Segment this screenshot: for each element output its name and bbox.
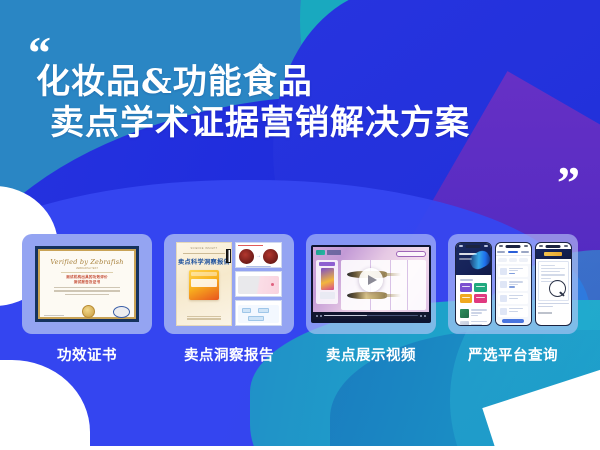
play-control-icon[interactable]	[316, 315, 318, 317]
phone-search-results[interactable]	[495, 242, 532, 326]
filter-chip[interactable]	[509, 258, 518, 262]
title-line-secondary: 卖点学术证据营销解决方案	[36, 103, 576, 144]
report-cover-footer	[177, 314, 231, 321]
item-text	[471, 309, 487, 317]
status-time	[499, 245, 503, 246]
filter-chip[interactable]	[519, 258, 528, 262]
footer-line	[538, 306, 554, 307]
result-row[interactable]	[498, 266, 528, 278]
volume-icon[interactable]	[320, 315, 322, 317]
card-label-insight-report: 卖点洞察报告	[164, 344, 294, 365]
flow-node	[248, 316, 264, 321]
video-progress-track[interactable]	[324, 315, 418, 316]
doc-line	[541, 271, 560, 272]
phone-notch	[466, 245, 481, 249]
dashboard-list	[458, 307, 489, 326]
video-microscope-view	[341, 260, 426, 310]
phone-notch	[546, 245, 561, 249]
status-time	[539, 245, 543, 246]
result-line	[509, 295, 523, 296]
result-line	[509, 284, 518, 285]
filter-chip-row[interactable]	[496, 256, 531, 264]
closing-quote-mark: ”	[557, 160, 578, 206]
side-panel-product-image	[321, 268, 334, 290]
item-text	[471, 321, 487, 326]
measurement-gridline	[390, 260, 391, 310]
status-icons	[484, 245, 488, 246]
cell-image-treated	[263, 249, 278, 264]
doc-line	[541, 274, 565, 275]
card-selling-point-insight-report[interactable]: SCIENCE INSIGHT 卖点科学洞察报告	[164, 234, 294, 384]
item-line	[471, 312, 482, 313]
result-row[interactable]	[498, 306, 528, 317]
title-line-primary: 化妆品&功能食品	[36, 62, 576, 103]
panel-caption-bar	[246, 266, 271, 268]
settings-icon[interactable]	[420, 315, 422, 317]
list-item[interactable]	[460, 309, 487, 318]
doc-line	[541, 265, 555, 266]
result-icon	[500, 268, 507, 275]
cell-image-control	[239, 249, 254, 264]
card-efficacy-certificate[interactable]: Verified by Zebrafish ZEBRAFISH TEST 测试机…	[22, 234, 152, 384]
quick-entry-tiles	[460, 283, 487, 304]
report-cover-rule	[183, 253, 225, 254]
signature-mark	[538, 309, 552, 315]
certificate-body-line	[54, 290, 120, 291]
tab-item[interactable]	[497, 251, 505, 253]
pathway-marker-dot	[271, 283, 274, 286]
arrow-icon: →	[256, 253, 261, 259]
phone-home-dashboard[interactable]	[455, 242, 492, 326]
certificate-script-title: Verified by Zebrafish	[50, 258, 123, 266]
brand-mark-icon	[316, 250, 325, 255]
video-progress-fill	[324, 315, 367, 316]
card-platform-query[interactable]: 严选平台查询	[448, 234, 578, 384]
certificate-script-subtitle: ZEBRAFISH TEST	[76, 267, 98, 270]
detail-header	[536, 249, 571, 259]
result-text	[509, 281, 526, 289]
side-panel-footer	[320, 292, 335, 299]
measurement-gridline	[407, 260, 408, 310]
result-line	[509, 311, 518, 312]
result-line	[509, 298, 518, 299]
poster-header: “ 化妆品&功能食品 卖点学术证据营销解决方案 ”	[0, 0, 600, 225]
result-meta	[509, 286, 515, 287]
panel-caption-bar	[246, 296, 271, 297]
result-text	[509, 295, 526, 302]
item-line	[471, 309, 487, 310]
video-control-bar[interactable]	[313, 312, 429, 319]
results-list	[496, 264, 531, 326]
video-brand-logo	[316, 250, 341, 255]
result-line	[509, 281, 523, 282]
qr-code-icon	[226, 249, 232, 263]
zebrafish-tail-top	[385, 273, 401, 276]
phone-mockup-group	[455, 242, 572, 326]
result-icon	[500, 295, 507, 302]
certificate-thumbnail[interactable]: Verified by Zebrafish ZEBRAFISH TEST 测试机…	[22, 234, 152, 334]
result-line	[509, 308, 523, 309]
phone-notch	[506, 245, 521, 249]
detail-footer	[538, 303, 569, 315]
product-package-image	[189, 270, 219, 300]
item-line	[471, 315, 478, 316]
result-icon	[500, 281, 507, 288]
panel-title-bar	[238, 245, 263, 246]
zebrafish-tail-bottom	[385, 294, 401, 297]
play-button[interactable]	[359, 268, 383, 292]
certificate-divider	[61, 272, 113, 273]
report-cover-tag: SCIENCE INSIGHT	[191, 247, 218, 250]
certificate-body-line	[54, 287, 120, 288]
brand-text	[327, 250, 341, 255]
video-title-badge	[396, 251, 426, 257]
video-side-panel	[316, 260, 338, 304]
video-screen	[313, 247, 429, 313]
pathway-illustration	[238, 276, 279, 294]
panel-pathway-diagram	[235, 271, 282, 297]
result-meta	[509, 273, 515, 274]
play-icon	[368, 275, 377, 285]
item-line	[471, 324, 482, 325]
report-cover-title: 卖点科学洞察报告	[178, 257, 230, 266]
result-text	[509, 268, 526, 276]
background-white-base	[0, 446, 600, 450]
report-figure-panels: →	[235, 242, 282, 326]
report-footer-line	[187, 316, 221, 317]
certificate-gold-seal-icon	[82, 305, 95, 318]
magnifier-icon	[549, 280, 566, 297]
list-item[interactable]	[460, 321, 487, 326]
result-icon	[500, 308, 507, 315]
result-row[interactable]	[498, 293, 528, 304]
quick-entry-card	[458, 277, 489, 305]
phones-thumbnail[interactable]	[448, 234, 578, 334]
footer-line	[538, 303, 569, 304]
tab-item[interactable]	[521, 251, 529, 253]
item-line	[471, 321, 487, 322]
report-thumbnail[interactable]: SCIENCE INSIGHT 卖点科学洞察报告	[164, 234, 294, 334]
card-label-efficacy-certificate: 功效证书	[22, 344, 152, 365]
result-line	[509, 270, 518, 271]
status-icons	[524, 245, 528, 246]
certificate-badge-icon	[544, 252, 562, 256]
certificate-seal-row	[35, 305, 139, 318]
feature-card-row: Verified by Zebrafish ZEBRAFISH TEST 测试机…	[0, 234, 600, 384]
report-document-group: SCIENCE INSIGHT 卖点科学洞察报告	[176, 242, 282, 326]
item-thumbnail	[460, 321, 469, 326]
doc-line	[541, 278, 551, 279]
certificate-document: Verified by Zebrafish ZEBRAFISH TEST 测试机…	[35, 246, 139, 322]
result-line	[509, 268, 523, 269]
filter-chip[interactable]	[498, 258, 507, 262]
report-cover: SCIENCE INSIGHT 卖点科学洞察报告	[176, 242, 232, 326]
quick-entry-heading	[460, 279, 473, 281]
panel-caption-bar	[246, 325, 271, 326]
load-more-button[interactable]	[502, 319, 524, 323]
result-row[interactable]	[498, 279, 528, 291]
magnifier-handle-icon	[559, 291, 565, 296]
hero-graphic-icon	[467, 248, 491, 272]
tab-item-active[interactable]	[508, 251, 518, 253]
status-time	[459, 245, 463, 246]
poster-root: “ 化妆品&功能食品 卖点学术证据营销解决方案 ” Verified by Ze…	[0, 0, 600, 450]
video-thumbnail[interactable]	[306, 234, 436, 334]
doc-line	[541, 268, 565, 269]
panel-mechanism-flow	[235, 300, 282, 326]
flow-node	[258, 308, 269, 313]
document-preview[interactable]	[538, 261, 569, 301]
results-tab-bar[interactable]	[496, 249, 531, 256]
panel-cell-imaging: →	[235, 242, 282, 268]
package-top-strip	[191, 272, 217, 276]
side-panel-tab	[319, 262, 335, 266]
flow-chart-illustration	[238, 305, 279, 323]
certificate-signature	[44, 311, 64, 318]
result-text	[509, 308, 526, 315]
tile-magenta[interactable]	[474, 294, 487, 304]
tile-orange[interactable]	[460, 294, 473, 304]
package-label	[191, 279, 217, 287]
item-thumbnail	[460, 309, 469, 318]
status-icons	[564, 245, 568, 246]
card-selling-point-demo-video[interactable]: 卖点展示视频	[306, 234, 436, 384]
report-footer-line	[187, 318, 221, 319]
tile-purple[interactable]	[460, 283, 473, 293]
card-label-platform-query: 严选平台查询	[448, 344, 578, 365]
certificate-chinese-line-2: 测试报告及证书	[74, 280, 101, 285]
poster-title: 化妆品&功能食品 卖点学术证据营销解决方案	[36, 62, 576, 145]
flow-node	[242, 308, 251, 313]
tile-green[interactable]	[474, 283, 487, 293]
zebrafish-specimen-bottom	[347, 292, 387, 299]
video-player[interactable]	[311, 245, 431, 323]
fullscreen-icon[interactable]	[424, 315, 426, 317]
certificate-body-line	[65, 294, 109, 295]
card-label-demo-video: 卖点展示视频	[306, 344, 436, 365]
cell-image-pair: →	[238, 248, 279, 264]
certificate-blue-stamp-icon	[113, 306, 130, 318]
phone-report-detail[interactable]	[535, 242, 572, 326]
